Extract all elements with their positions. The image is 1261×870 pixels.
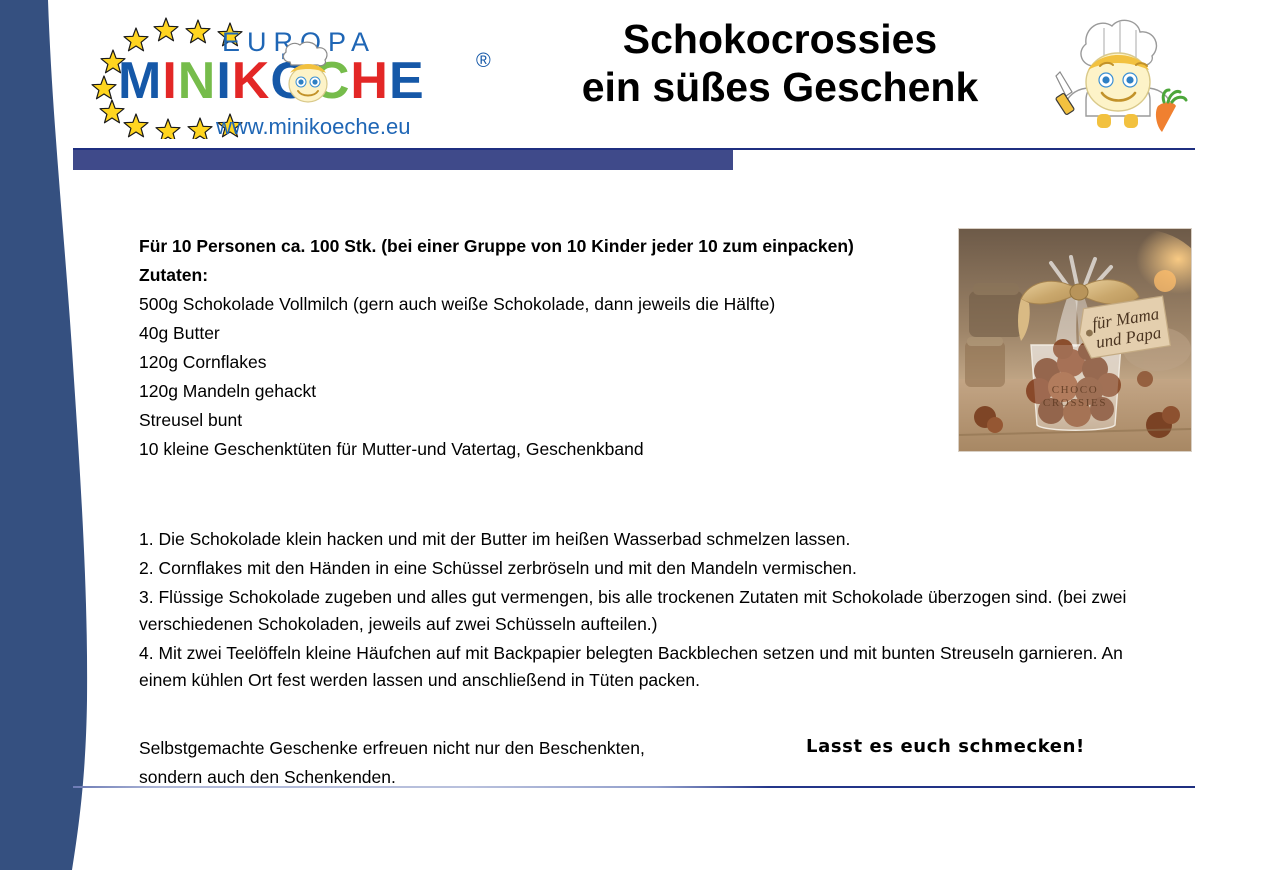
recipe-page: EUROPA MINIKÖCHE ® www.minikoeche.eu [0,0,1261,870]
logo-letter-3: I [216,51,231,111]
footer-divider-line [73,786,1195,788]
ingredient-item: 10 kleine Geschenktüten für Mutter-und V… [139,435,949,464]
chef-head-icon [278,40,340,104]
title-line-1: Schokocrossies [520,16,1040,64]
ingredient-item: Streusel bunt [139,406,949,435]
step-item: 3. Flüssige Schokolade zugeben und alles… [139,584,1144,638]
logo-letter-4: K [232,51,271,111]
bag-label-line-1: CHOCO [1052,384,1099,396]
logo-letter-8: E [389,51,425,111]
step-item: 2. Cornflakes mit den Händen in eine Sch… [139,555,1144,582]
title-line-2: ein süßes Geschenk [520,64,1040,112]
closing-section: Selbstgemachte Geschenke erfreuen nicht … [139,734,1149,794]
ingredient-item: 40g Butter [139,319,949,348]
page-title: Schokocrossies ein süßes Geschenk [520,16,1040,112]
ingredient-item: 120g Cornflakes [139,348,949,377]
ingredient-item: 120g Mandeln gehackt [139,377,949,406]
enjoy-message: Lasst es euch schmecken! [806,736,1085,757]
logo-letter-1: I [162,51,177,111]
logo-letter-2: N [178,51,217,111]
chef-mascot-icon [1042,8,1190,142]
preparation-steps: 1. Die Schokolade klein hacken und mit d… [139,526,1144,694]
registered-trademark-icon: ® [476,50,491,73]
logo-letter-0: M [118,51,162,111]
logo-letter-7: H [350,51,389,111]
logo-minikoeche-text: MINIKÖCHE [118,51,425,111]
step-item: 1. Die Schokolade klein hacken und mit d… [139,526,1144,553]
header-accent-bar [73,150,733,170]
logo-website-url: www.minikoeche.eu [216,114,410,140]
bag-label-line-2: CROSSIES [1043,397,1107,409]
page-header: EUROPA MINIKÖCHE ® www.minikoeche.eu [0,0,1261,145]
europa-minikoeche-logo: EUROPA MINIKÖCHE ® www.minikoeche.eu [88,14,508,139]
choco-crossies-gift-bag-photo: für Mama und Papa CHOCO CROSSIES [958,228,1192,452]
carrot-icon [1156,90,1186,132]
ingredients-heading: Zutaten: [139,261,949,290]
serving-note: Für 10 Personen ca. 100 Stk. (bei einer … [139,232,949,261]
ingredient-item: 500g Schokolade Vollmilch (gern auch wei… [139,290,949,319]
ingredients-section: Für 10 Personen ca. 100 Stk. (bei einer … [139,232,949,464]
step-item: 4. Mit zwei Teelöffeln kleine Häufchen a… [139,640,1144,694]
